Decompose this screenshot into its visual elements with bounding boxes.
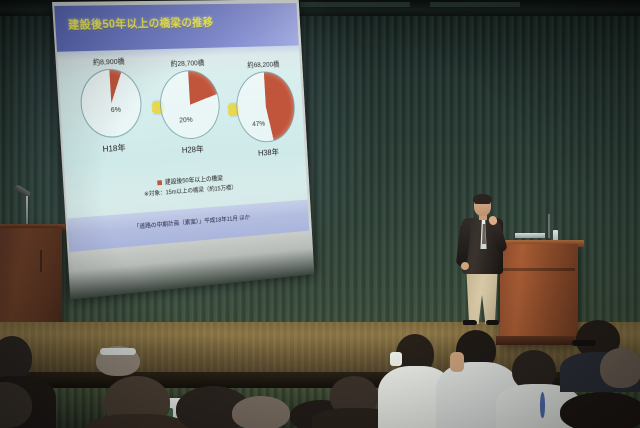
beam-bar-1 — [300, 2, 410, 7]
pie-year-h38: H38年 — [232, 145, 304, 161]
beam-bar-2 — [430, 2, 520, 7]
pie-chart-row: 約8,900橋 6% H18年 約28,700橋 20% H28年 — [57, 45, 306, 180]
podium-laptop — [515, 233, 545, 238]
audience-lanyard — [540, 392, 545, 418]
podium-groove — [503, 268, 575, 271]
pie-year-h18: H18年 — [76, 140, 150, 156]
slide-title: 建設後50年以上の橋梁の推移 — [68, 15, 214, 33]
pie-circle-h38: 47% — [234, 71, 296, 144]
audience-eyeglasses-on-head — [100, 348, 136, 355]
pie-percent-h28: 20% — [179, 115, 193, 124]
pie-year-h28: H28年 — [156, 142, 229, 158]
pie-percent-h38: 47% — [252, 119, 265, 128]
audience-head — [560, 392, 640, 428]
pie-circle-h28: 20% — [158, 69, 221, 140]
slide-title-band: 建設後50年以上の橋梁の推移 — [54, 3, 299, 52]
pie-circle-h18: 6% — [79, 68, 144, 139]
auditorium-scene: 建設後50年以上の橋梁の推移 約8,900橋 6% H18年 — [0, 0, 640, 428]
presenter-hand-left — [461, 262, 469, 270]
pie-percent-h18: 6% — [111, 105, 122, 114]
lectern-left-seam — [40, 250, 42, 272]
podium-microphone — [548, 214, 550, 238]
audience-head — [232, 396, 290, 428]
slide-footnote: 「道路の中期計画（素案）」平成18年11月 ほか — [133, 213, 250, 231]
pie-chart-h18: 約8,900橋 6% H18年 — [71, 55, 151, 156]
slide-surface: 建設後50年以上の橋梁の推移 約8,900橋 6% H18年 — [54, 3, 309, 252]
pie-chart-h38: 約68,200橋 47% H38年 — [227, 58, 305, 160]
presenter-shoe-right — [486, 320, 499, 325]
pie-count-label-h38: 約68,200橋 — [227, 58, 300, 71]
legend-swatch-icon — [157, 180, 162, 185]
pie-count-label-h28: 約28,700橋 — [151, 57, 224, 70]
audience-hand-raised — [450, 352, 464, 372]
glasses-icon — [475, 203, 490, 207]
presenter-shoe-left — [463, 320, 477, 325]
pie-chart-h28: 約28,700橋 20% H28年 — [151, 57, 229, 157]
podium-base — [496, 336, 582, 345]
audience-eyeglasses — [572, 340, 596, 346]
pie-count-label-h18: 約8,900橋 — [71, 55, 146, 68]
slide-body: 約8,900橋 6% H18年 約28,700橋 20% H28年 — [57, 45, 309, 252]
podium — [500, 244, 578, 344]
projection-screen: 建設後50年以上の橋梁の推移 約8,900橋 6% H18年 — [52, 0, 314, 300]
audience-face-mask — [390, 352, 402, 366]
audience-head — [600, 348, 640, 388]
